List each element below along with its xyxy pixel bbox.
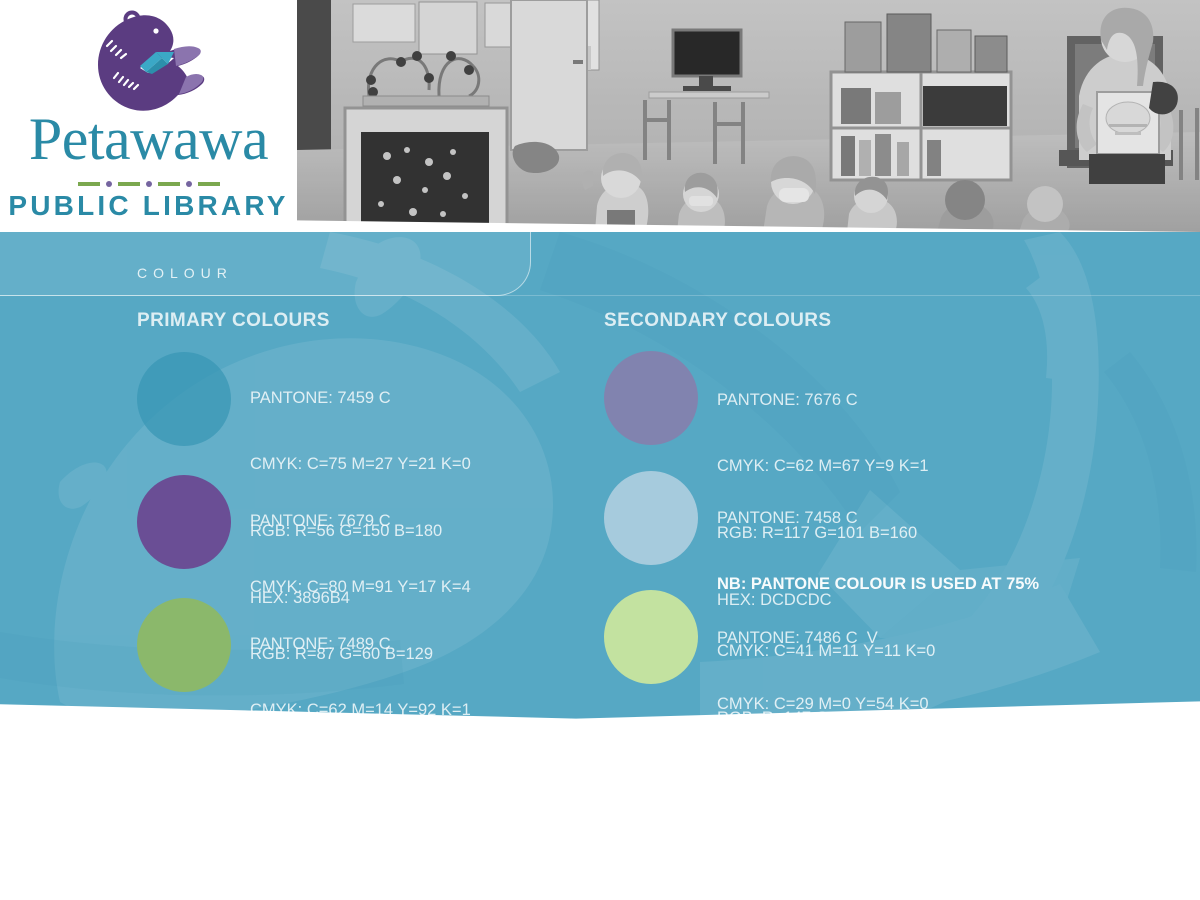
library-logo: Petawawa PUBLIC LIBRARY xyxy=(0,0,297,232)
section-tab-label: COLOUR xyxy=(137,265,233,281)
pantone-line: PANTONE: 7676 C xyxy=(717,389,929,411)
storytime-photograph xyxy=(297,0,1200,232)
primary-colours-title: PRIMARY COLOURS xyxy=(137,310,597,332)
swatch-circle-secondary-3 xyxy=(604,590,698,684)
swatch-row: PANTONE: 7486 C V CMYK: C=29 M=0 Y=54 K=… xyxy=(604,588,1104,711)
pantone-line: PANTONE: 7459 C xyxy=(250,387,471,409)
colour-tab-shape xyxy=(0,232,531,296)
logo-subtitle: PUBLIC LIBRARY xyxy=(0,190,297,222)
pantone-line: PANTONE: 7486 C V xyxy=(717,627,929,649)
swatch-circle-primary-2 xyxy=(137,475,231,569)
header-photo xyxy=(297,0,1200,232)
swatch-row: PANTONE: 7676 C CMYK: C=62 M=67 Y=9 K=1 … xyxy=(604,342,1104,465)
pantone-line: PANTONE: 7679 C xyxy=(250,510,471,532)
swatch-circle-secondary-2 xyxy=(604,471,698,565)
swatch-circle-secondary-1 xyxy=(604,351,698,445)
pantone-line: PANTONE: 7489 C xyxy=(250,633,471,655)
rgb-line: RGB: R=113 G=163 B=79 xyxy=(250,766,471,788)
page-header: Petawawa PUBLIC LIBRARY xyxy=(0,0,1200,232)
secondary-colours-title: SECONDARY COLOURS xyxy=(604,310,1104,332)
section-divider-rule xyxy=(0,295,1200,296)
swatch-row: PANTONE: 7458 C NB: PANTONE COLOUR IS US… xyxy=(604,465,1104,588)
primary-colours-column: PRIMARY COLOURS PANTONE: 7459 C CMYK: C=… xyxy=(137,310,597,711)
logo-wordmark: Petawawa xyxy=(0,108,297,170)
swatch-circle-primary-3 xyxy=(137,598,231,692)
swatch-row: PANTONE: 7459 C CMYK: C=75 M=27 Y=21 K=0… xyxy=(137,342,597,465)
pantone-line: PANTONE: 7458 C xyxy=(717,507,1039,529)
swatch-info-secondary-3: PANTONE: 7486 C V CMYK: C=29 M=0 Y=54 K=… xyxy=(717,582,929,894)
reading-bear-icon xyxy=(78,8,223,116)
logo-divider xyxy=(0,176,297,186)
swatch-info-primary-3: PANTONE: 7489 C CMYK: C=62 M=14 Y=92 K=1… xyxy=(250,588,471,900)
swatch-row: PANTONE: 7679 C CMYK: C=80 M=91 Y=17 K=4… xyxy=(137,465,597,588)
swatch-row: PANTONE: 7489 C CMYK: C=62 M=14 Y=92 K=1… xyxy=(137,588,597,711)
swatch-circle-primary-1 xyxy=(137,352,231,446)
rgb-line: RGB: R=187 G=224 B=148 xyxy=(717,760,929,782)
hex-line: HEX: 71A84F xyxy=(250,833,471,855)
hex-line: HEX: BBE094 xyxy=(717,827,929,849)
secondary-colours-column: SECONDARY COLOURS PANTONE: 7676 C CMYK: … xyxy=(604,310,1104,711)
cmyk-line: CMYK: C=29 M=0 Y=54 K=0 xyxy=(717,693,929,715)
cmyk-line: CMYK: C=62 M=14 Y=92 K=1 xyxy=(250,699,471,721)
